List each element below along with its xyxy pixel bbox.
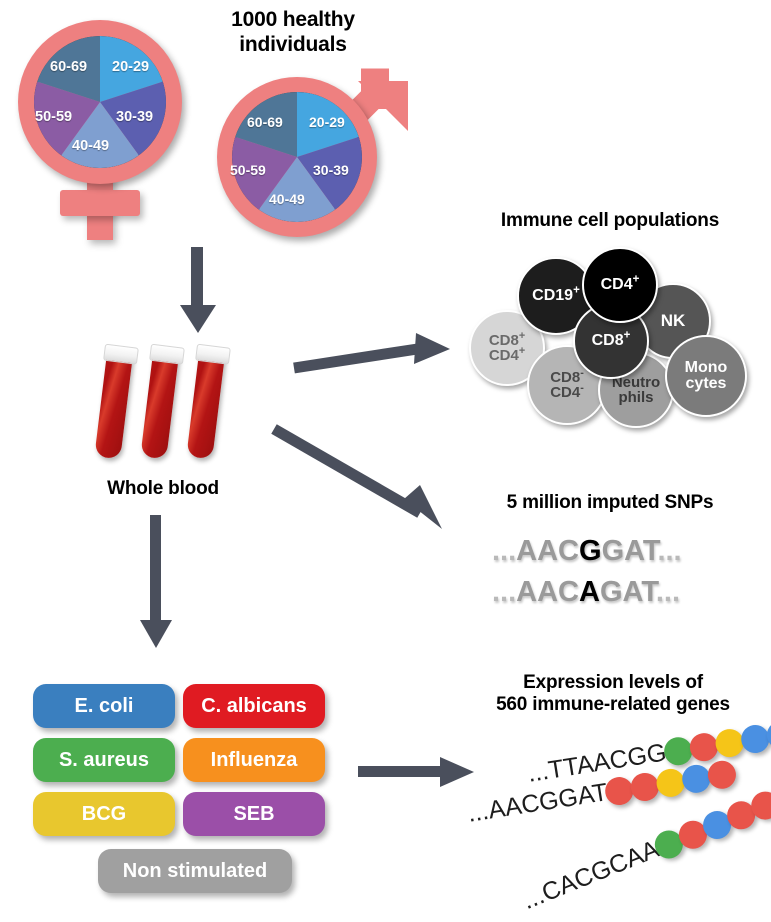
- blood-tube: [93, 344, 139, 467]
- cell-label: CD8+: [592, 333, 631, 349]
- rna-sequence: ...CACGCAA: [519, 835, 664, 916]
- blood-tube: [139, 344, 185, 467]
- arrow-blood-to-snps: [272, 425, 457, 540]
- stimulus-label: C. albicans: [201, 695, 307, 718]
- snp-right: GAT: [600, 576, 656, 608]
- expression-title-line1: Expression levels of: [463, 672, 763, 694]
- down-arrow-icon: [178, 247, 218, 335]
- snp-left: AAC: [516, 535, 579, 567]
- arrow-stimuli-to-expression: [358, 752, 476, 792]
- snp-right: GAT: [602, 535, 658, 567]
- venus-age-label-30-39: 30-39: [116, 109, 153, 125]
- stimulus-label: Influenza: [211, 749, 298, 772]
- cell-label: CD4+: [601, 277, 640, 293]
- stimulus-label: Non stimulated: [123, 860, 267, 883]
- snp-suffix: ...: [657, 535, 681, 567]
- rna-bead: [713, 727, 745, 759]
- immune-cell-cluster: CD8+CD4+ CD8-CD4- Neutrophils NK Monocyt…: [465, 245, 760, 425]
- snp-variant: G: [579, 535, 602, 567]
- venus-age-label-40-49: 40-49: [72, 138, 109, 154]
- snp-sequence-row: ...AACAGAT...: [492, 576, 680, 609]
- right-arrow-icon: [292, 330, 452, 380]
- snp-prefix: ...: [492, 576, 516, 608]
- female-cohort-symbol: 20-29 30-39 40-49 50-59 60-69: [8, 18, 198, 243]
- tube-body: [186, 353, 224, 459]
- venus-age-label-50-59: 50-59: [35, 109, 72, 125]
- cell-label: NK: [661, 312, 686, 329]
- snp-left: AAC: [516, 576, 579, 608]
- stimulus-pill-non-stimulated[interactable]: Non stimulated: [98, 849, 292, 893]
- expression-title: Expression levels of 560 immune-related …: [463, 672, 763, 717]
- tube-body: [140, 353, 178, 459]
- blood-tube: [185, 344, 231, 467]
- venus-age-label-60-69: 60-69: [50, 59, 87, 75]
- cell-label: Monocytes: [685, 360, 728, 393]
- stimulus-pill-c-albicans[interactable]: C. albicans: [183, 684, 325, 728]
- mars-age-label-60-69: 60-69: [247, 114, 283, 130]
- snp-variant: A: [579, 576, 600, 608]
- mars-age-label-20-29: 20-29: [309, 114, 345, 130]
- cohort-title: 1000 healthy individuals: [178, 8, 408, 58]
- rna-bead: [688, 731, 720, 763]
- mars-age-label-40-49: 40-49: [269, 191, 305, 207]
- immune-populations-title: Immune cell populations: [460, 210, 760, 232]
- cell-circle-cd4pos: CD4+: [582, 247, 658, 323]
- stimulus-pill-seb[interactable]: SEB: [183, 792, 325, 836]
- stimulus-pill-influenza[interactable]: Influenza: [183, 738, 325, 782]
- whole-blood-label: Whole blood: [78, 478, 248, 500]
- tube-body: [94, 353, 132, 459]
- diagonal-down-arrow-icon: [272, 425, 457, 540]
- snps-title: 5 million imputed SNPs: [460, 492, 760, 514]
- snp-suffix: ...: [656, 576, 680, 608]
- stimulus-label: BCG: [82, 803, 126, 826]
- rna-bead: [739, 723, 771, 755]
- expression-title-line2: 560 immune-related genes: [463, 694, 763, 716]
- cell-label: CD19+: [532, 288, 580, 304]
- venus-stem-horizontal: [60, 190, 140, 216]
- cell-label: CD8-CD4-: [550, 370, 584, 401]
- arrow-blood-to-stimuli: [136, 515, 176, 650]
- stimulus-label: E. coli: [75, 695, 134, 718]
- male-cohort-symbol: 20-29 30-39 40-49 50-59 60-69: [205, 55, 420, 245]
- cell-label: CD8+CD4+: [489, 333, 525, 364]
- mars-age-label-50-59: 50-59: [230, 162, 266, 178]
- stimulus-pill-e-coli[interactable]: E. coli: [33, 684, 175, 728]
- down-arrow-icon: [136, 515, 176, 650]
- stimulus-label: SEB: [233, 803, 274, 826]
- snp-sequence-row: ...AACGGAT...: [492, 535, 682, 568]
- right-arrow-icon: [358, 752, 476, 792]
- stimulus-pill-bcg[interactable]: BCG: [33, 792, 175, 836]
- arrow-blood-to-immune: [292, 330, 452, 380]
- stimulus-label: S. aureus: [59, 749, 149, 772]
- cohort-title-line1: 1000 healthy: [178, 8, 408, 33]
- cohort-title-line2: individuals: [178, 33, 408, 58]
- rna-bead: [706, 758, 738, 790]
- mars-age-label-30-39: 30-39: [313, 162, 349, 178]
- venus-age-label-20-29: 20-29: [112, 59, 149, 75]
- cell-circle-monocytes: Monocytes: [665, 335, 747, 417]
- snp-prefix: ...: [492, 535, 516, 567]
- whole-blood-tubes: [100, 338, 250, 463]
- cell-label: Neutrophils: [612, 375, 660, 406]
- stimulus-pill-s-aureus[interactable]: S. aureus: [33, 738, 175, 782]
- arrow-cohort-to-blood: [178, 247, 218, 335]
